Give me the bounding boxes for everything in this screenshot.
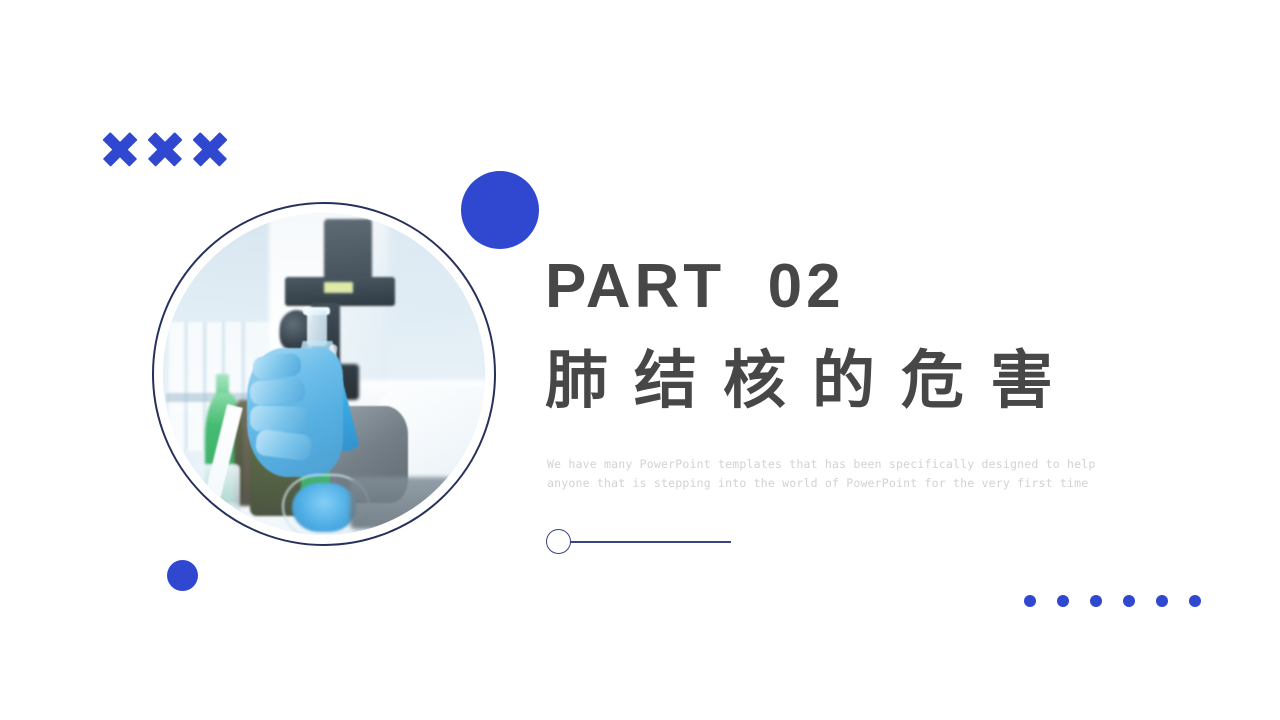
x-mark-icon-1	[104, 134, 135, 165]
dot-icon-5	[1156, 595, 1168, 607]
rule-line	[570, 541, 731, 543]
blue-circle-small-decoration	[167, 560, 198, 591]
subtitle-line-1: We have many PowerPoint templates that h…	[547, 455, 1107, 474]
photo-instrument-tray	[350, 477, 453, 529]
photo-finger-1	[252, 352, 302, 379]
x-mark-icon-3	[194, 134, 225, 165]
subtitle-paragraph: We have many PowerPoint templates that h…	[547, 455, 1107, 493]
page-title: 肺结核的危害	[545, 347, 1079, 416]
dot-icon-4	[1123, 595, 1135, 607]
photo-canvas	[163, 213, 485, 535]
photo-background-right	[388, 213, 485, 393]
subtitle-line-2: anyone that is stepping into the world o…	[547, 474, 1107, 493]
photo-microscope-slide	[324, 282, 353, 292]
rule-circle-icon	[546, 529, 571, 554]
part-label: PART 02	[545, 256, 845, 318]
dot-icon-3	[1090, 595, 1102, 607]
dot-icon-2	[1057, 595, 1069, 607]
x-marks-decoration	[104, 134, 225, 165]
circle-line-rule	[546, 529, 731, 555]
dot-row-decoration	[1024, 595, 1201, 607]
laboratory-photo	[163, 213, 485, 535]
photo-finger-2	[249, 379, 305, 406]
x-mark-icon-2	[149, 134, 180, 165]
dot-icon-1	[1024, 595, 1036, 607]
slide-root: PART 02 肺结核的危害 We have many PowerPoint t…	[0, 0, 1280, 720]
dot-icon-6	[1189, 595, 1201, 607]
photo-finger-3	[250, 405, 309, 433]
